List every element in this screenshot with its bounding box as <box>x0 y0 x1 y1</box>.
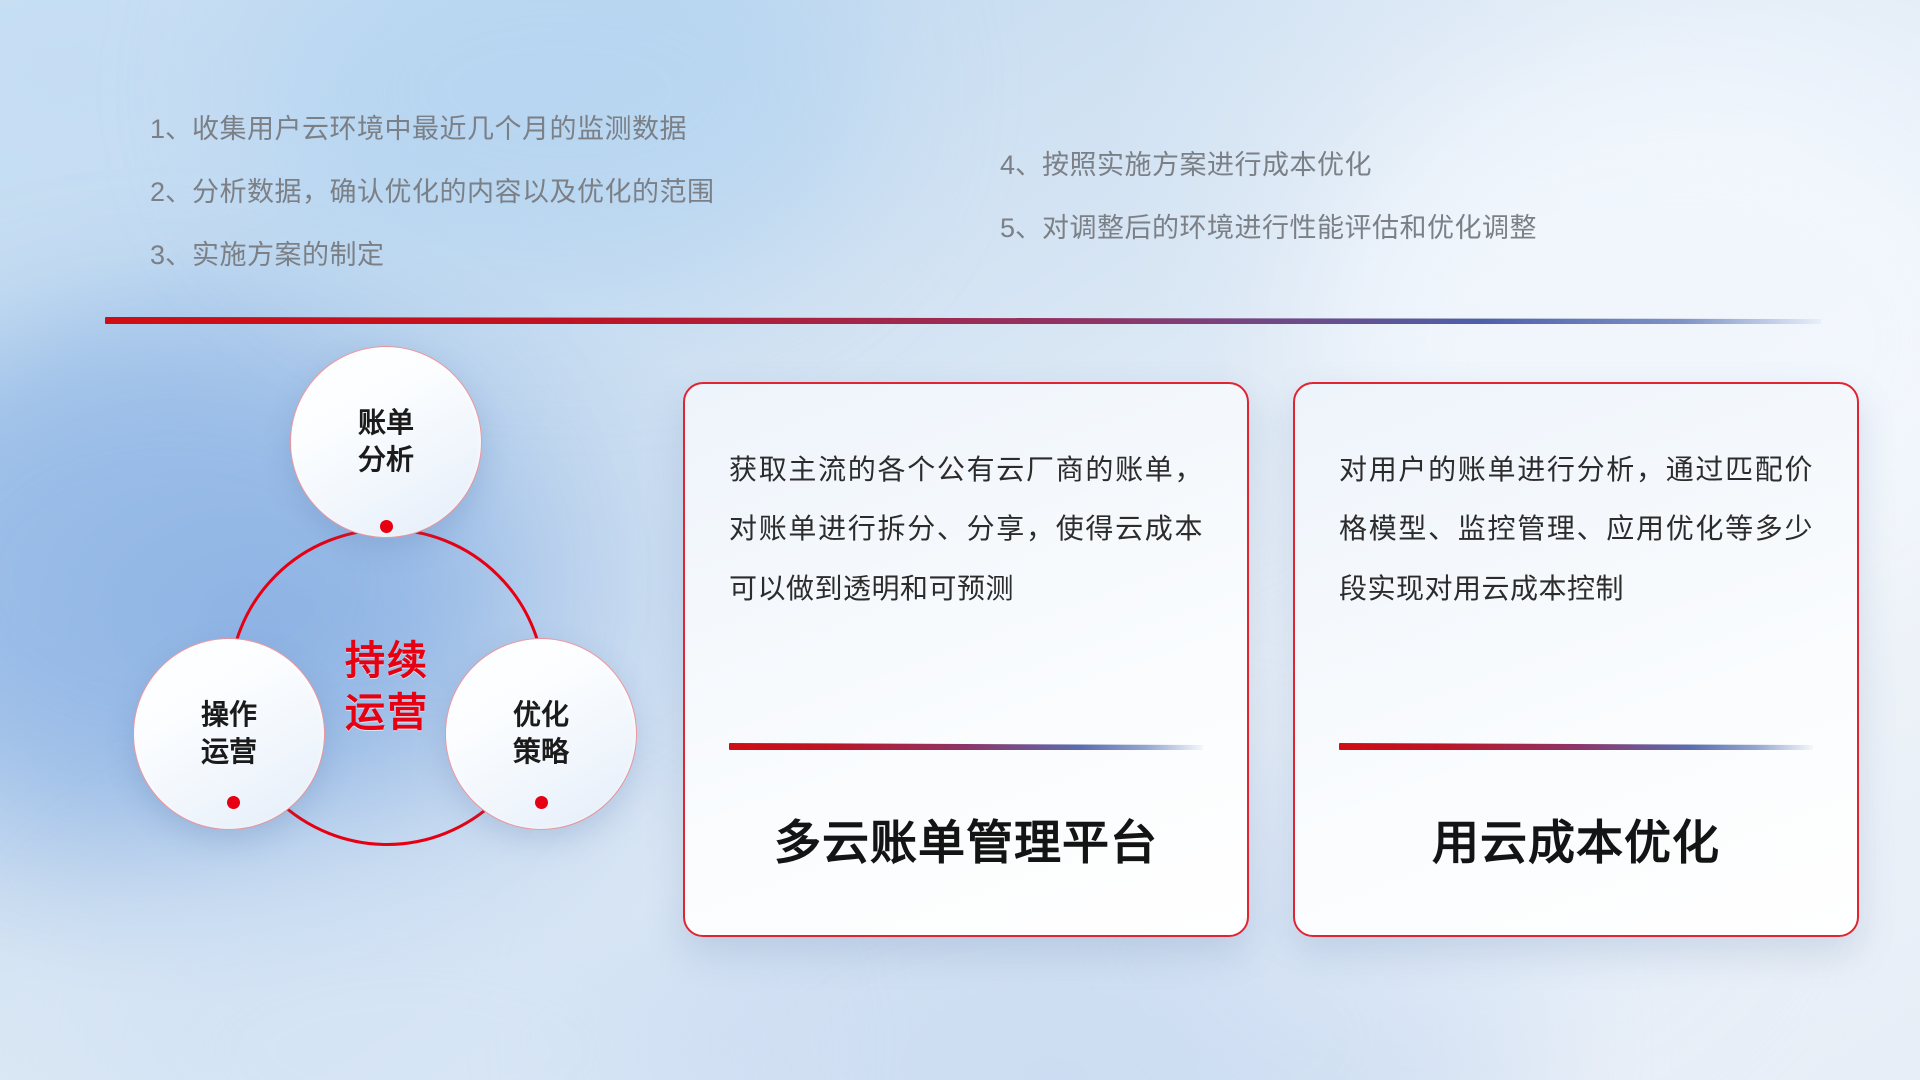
slide-canvas: 1、收集用户云环境中最近几个月的监测数据 2、分析数据，确认优化的内容以及优化的… <box>0 0 1920 1080</box>
venn-diagram: 持续 运营 账单 分析 操作 运营 优化 策略 <box>95 350 655 950</box>
connector-dot-left <box>227 796 240 809</box>
step-number: 3、 <box>150 240 192 270</box>
step-number: 2、 <box>150 177 192 207</box>
step-text: 收集用户云环境中最近几个月的监测数据 <box>192 114 687 144</box>
bubble-label-line2: 运营 <box>201 734 257 771</box>
step-text: 对调整后的环境进行性能评估和优化调整 <box>1042 213 1537 243</box>
step-item-4: 4、按照实施方案进行成本优化 <box>1000 152 1537 179</box>
step-text: 按照实施方案进行成本优化 <box>1042 150 1372 180</box>
bubble-label-line1: 优化 <box>513 697 569 734</box>
feature-card-cloud-cost-optimization[interactable]: 对用户的账单进行分析，通过匹配价格模型、监控管理、应用优化等多少段实现对用云成本… <box>1293 382 1859 937</box>
step-number: 5、 <box>1000 213 1042 243</box>
venn-bubble-billing-analysis[interactable]: 账单 分析 <box>290 346 482 538</box>
step-item-3: 3、实施方案的制定 <box>150 242 715 269</box>
steps-list-left: 1、收集用户云环境中最近几个月的监测数据 2、分析数据，确认优化的内容以及优化的… <box>150 116 715 269</box>
venn-center-label-line2: 运营 <box>345 687 429 739</box>
card-divider <box>1339 743 1813 750</box>
step-text: 实施方案的制定 <box>192 240 385 270</box>
bubble-label-line2: 策略 <box>513 734 569 771</box>
connector-dot-top <box>380 520 393 533</box>
step-item-2: 2、分析数据，确认优化的内容以及优化的范围 <box>150 179 715 206</box>
section-divider <box>105 317 1821 324</box>
connector-dot-right <box>535 796 548 809</box>
card-divider <box>729 743 1203 750</box>
card-body-text: 对用户的账单进行分析，通过匹配价格模型、监控管理、应用优化等多少段实现对用云成本… <box>1339 440 1813 618</box>
step-number: 1、 <box>150 114 192 144</box>
step-item-1: 1、收集用户云环境中最近几个月的监测数据 <box>150 116 715 143</box>
venn-center-label-line1: 持续 <box>345 635 429 687</box>
feature-card-multicloud-billing[interactable]: 获取主流的各个公有云厂商的账单，对账单进行拆分、分享，使得云成本可以做到透明和可… <box>683 382 1249 937</box>
bubble-label-line1: 操作 <box>201 697 257 734</box>
bubble-label-line1: 账单 <box>358 405 414 442</box>
step-item-5: 5、对调整后的环境进行性能评估和优化调整 <box>1000 215 1537 242</box>
steps-list-right: 4、按照实施方案进行成本优化 5、对调整后的环境进行性能评估和优化调整 <box>1000 152 1537 242</box>
card-title: 用云成本优化 <box>1339 750 1813 935</box>
step-number: 4、 <box>1000 150 1042 180</box>
step-text: 分析数据，确认优化的内容以及优化的范围 <box>192 177 715 207</box>
bubble-label-line2: 分析 <box>358 442 414 479</box>
card-body-text: 获取主流的各个公有云厂商的账单，对账单进行拆分、分享，使得云成本可以做到透明和可… <box>729 440 1203 618</box>
card-title: 多云账单管理平台 <box>729 750 1203 935</box>
